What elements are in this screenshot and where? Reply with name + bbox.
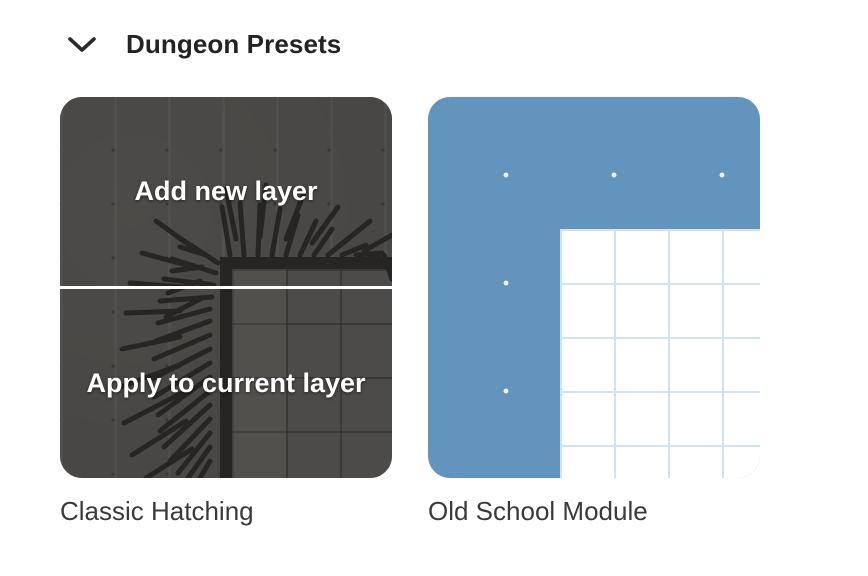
preset-hover-overlay: Add new layer Apply to current layer [60, 97, 392, 478]
add-new-layer-action[interactable]: Add new layer [60, 97, 392, 286]
old-school-room-floor [560, 229, 760, 478]
preset-thumbnail-old-school-module[interactable] [428, 97, 760, 478]
dungeon-presets-header[interactable]: Dungeon Presets [60, 22, 341, 66]
preset-label-old-school-module: Old School Module [428, 496, 760, 527]
preset-label-classic-hatching: Classic Hatching [60, 496, 392, 527]
preset-card-old-school-module[interactable]: Old School Module [428, 97, 760, 527]
chevron-down-icon[interactable] [60, 22, 104, 66]
preset-grid: Add new layer Apply to current layer Cla… [60, 97, 760, 527]
preset-thumbnail-classic-hatching[interactable]: Add new layer Apply to current layer [60, 97, 392, 478]
apply-to-current-layer-action[interactable]: Apply to current layer [60, 289, 392, 478]
old-school-fill-dots [428, 97, 760, 478]
page-title: Dungeon Presets [126, 29, 341, 60]
preset-card-classic-hatching[interactable]: Add new layer Apply to current layer Cla… [60, 97, 392, 527]
old-school-map-preview [428, 97, 760, 478]
